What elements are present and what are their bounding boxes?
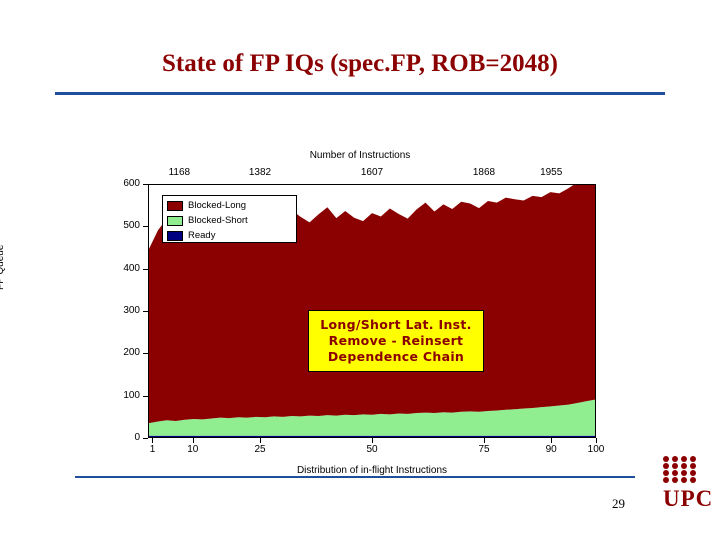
x-tick (372, 438, 373, 443)
x-tick-label: 100 (576, 444, 616, 455)
x-tick (484, 438, 485, 443)
upc-logo: UPC (663, 456, 715, 516)
legend-swatch-blocked-long (167, 201, 183, 211)
top-tick-label: 1955 (526, 167, 576, 178)
top-tick-label: 1868 (459, 167, 509, 178)
callout-line-2: Remove - Reinsert (329, 333, 464, 349)
legend-label-ready: Ready (188, 231, 215, 241)
x-tick-label: 50 (352, 444, 392, 455)
x-tick-label: 1 (132, 444, 172, 455)
x-tick (596, 438, 597, 443)
y-tick-label: 400 (100, 263, 140, 274)
legend-swatch-blocked-short (167, 216, 183, 226)
page-title: State of FP IQs (spec.FP, ROB=2048) (0, 50, 720, 78)
y-tick-label: 0 (100, 432, 140, 443)
x-tick (551, 438, 552, 443)
x-tick-label: 90 (531, 444, 571, 455)
title-divider (55, 92, 665, 95)
y-tick-label: 600 (100, 178, 140, 189)
logo-dots-icon (663, 456, 707, 486)
y-tick (143, 311, 148, 312)
y-tick-label: 200 (100, 347, 140, 358)
callout-line-1: Long/Short Lat. Inst. (320, 317, 471, 333)
chart-legend: Blocked-Long Blocked-Short Ready (162, 195, 297, 243)
y-tick (143, 226, 148, 227)
legend-label-blocked-short: Blocked-Short (188, 216, 248, 226)
y-tick (143, 353, 148, 354)
legend-item: Blocked-Long (167, 199, 292, 213)
x-tick-label: 25 (240, 444, 280, 455)
y-tick-label: 100 (100, 390, 140, 401)
x-tick-label: 75 (464, 444, 504, 455)
x-tick (260, 438, 261, 443)
chart-x-axis-title: Distribution of in-flight Instructions (148, 465, 596, 476)
footer-divider (75, 476, 635, 478)
page-number: 29 (612, 496, 625, 512)
y-tick-label: 500 (100, 220, 140, 231)
top-tick-label: 1607 (347, 167, 397, 178)
top-tick-label: 1168 (154, 167, 204, 178)
chart-container: Number of Instructions FP Queue Distribu… (0, 140, 720, 480)
legend-label-blocked-long: Blocked-Long (188, 201, 246, 211)
logo-text: UPC (663, 486, 713, 512)
y-tick (143, 438, 148, 439)
y-tick-label: 300 (100, 305, 140, 316)
legend-item: Ready (167, 229, 292, 243)
legend-item: Blocked-Short (167, 214, 292, 228)
series-area-ready (149, 436, 595, 437)
x-tick (152, 438, 153, 443)
y-tick (143, 269, 148, 270)
y-tick (143, 184, 148, 185)
chart-top-axis-label: Number of Instructions (0, 150, 720, 161)
x-tick (193, 438, 194, 443)
callout-line-3: Dependence Chain (328, 349, 464, 365)
top-tick-label: 1382 (235, 167, 285, 178)
chart-y-axis-title: FP Queue (0, 245, 6, 290)
legend-swatch-ready (167, 231, 183, 241)
annotation-callout: Long/Short Lat. Inst. Remove - Reinsert … (308, 310, 484, 372)
y-tick (143, 396, 148, 397)
x-tick-label: 10 (173, 444, 213, 455)
